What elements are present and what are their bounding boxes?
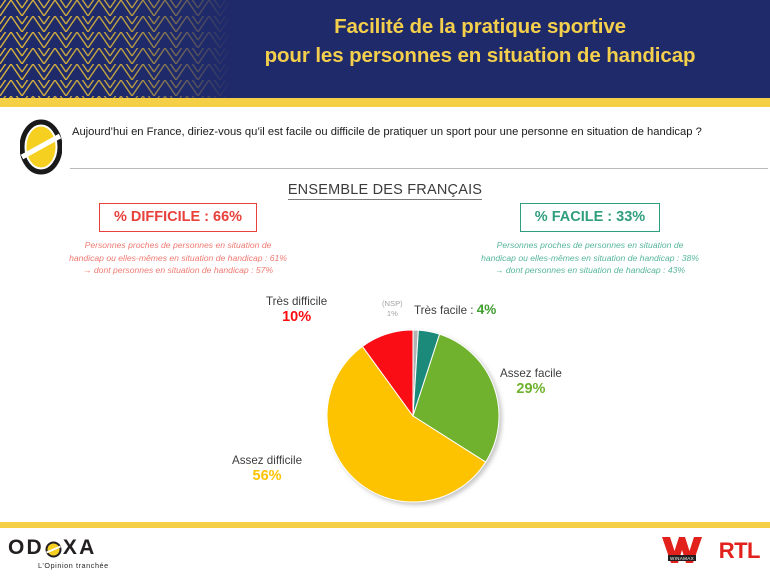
pie-label-assez-facile-name: Assez facile [500, 367, 562, 380]
pie-label-tres-difficile: Très difficile 10% [266, 294, 327, 325]
callout-facile-value: % FACILE : 33% [520, 203, 660, 232]
pie-label-tres-facile-pct: 4% [477, 302, 497, 317]
svg-text:WINAMAX: WINAMAX [670, 556, 694, 561]
callout-difficile-sub-line1: Personnes proches de personnes en situat… [28, 239, 328, 252]
pie-label-tres-facile: Très facile : 4% [414, 302, 496, 318]
odoxa-circle-icon [20, 119, 62, 175]
pie-label-assez-difficile: Assez difficile 56% [232, 453, 302, 484]
pie-label-nsp: (NSP) 1% [382, 299, 403, 319]
callout-facile-subtext: Personnes proches de personnes en situat… [440, 239, 740, 277]
header-gold-band [0, 98, 770, 107]
callout-difficile-sub-line3: → dont personnes en situation de handica… [28, 264, 328, 277]
callout-difficile-sub-line2: handicap ou elles-mêmes en situation de … [28, 252, 328, 265]
pie-chart-area: Très difficile 10% (NSP) 1% Très facile … [0, 288, 770, 518]
callout-facile: % FACILE : 33% Personnes proches de pers… [440, 203, 740, 277]
slide-header: Facilité de la pratique sportive pour le… [0, 0, 770, 98]
pie-label-tres-difficile-pct: 10% [266, 310, 327, 325]
pie-label-nsp-name: (NSP) [382, 299, 403, 308]
pie-chart [325, 328, 505, 508]
slide-root: Facilité de la pratique sportive pour le… [0, 0, 770, 577]
pie-label-assez-facile: Assez facile 29% [500, 366, 562, 397]
partner-logos: WINAMAX RTL [659, 534, 760, 568]
callout-facile-sub-line1: Personnes proches de personnes en situat… [440, 239, 740, 252]
question-divider [70, 168, 768, 169]
section-title: ENSEMBLE DES FRANÇAIS [0, 182, 770, 198]
page-title-line2: pour les personnes en situation de handi… [200, 41, 760, 70]
odoxa-logo: OD XA L’Opinion tranchée [8, 536, 128, 570]
chevron-pattern-decoration [0, 0, 232, 98]
pie-label-tres-facile-name: Très facile : [414, 304, 477, 317]
slide-footer: OD XA L’Opinion tranchée WINAMAX RTL [0, 528, 770, 577]
section-title-text: ENSEMBLE DES FRANÇAIS [288, 182, 482, 200]
pie-label-assez-difficile-name: Assez difficile [232, 454, 302, 467]
callout-facile-sub-line2: handicap ou elles-mêmes en situation de … [440, 252, 740, 265]
page-title: Facilité de la pratique sportive pour le… [200, 12, 760, 70]
callout-difficile-head: % DIFFICILE : 66% [28, 203, 328, 232]
pie-label-assez-difficile-pct: 56% [232, 469, 302, 484]
odoxa-wordmark: OD XA [8, 536, 128, 559]
callout-facile-sub-line3: → dont personnes en situation de handica… [440, 264, 740, 277]
callout-difficile: % DIFFICILE : 66% Personnes proches de p… [28, 203, 328, 277]
page-title-line1: Facilité de la pratique sportive [334, 15, 626, 38]
pie-label-assez-facile-pct: 29% [500, 382, 562, 397]
winamax-logo-icon: WINAMAX [659, 534, 705, 568]
pie-label-tres-difficile-name: Très difficile [266, 295, 327, 308]
odoxa-o-icon [45, 540, 62, 557]
question-text: Aujourd’hui en France, diriez-vous qu’il… [72, 123, 752, 141]
odoxa-wordmark-part2: XA [63, 536, 97, 559]
callout-difficile-subtext: Personnes proches de personnes en situat… [28, 239, 328, 277]
odoxa-tagline: L’Opinion tranchée [38, 561, 128, 570]
rtl-logo: RTL [719, 538, 760, 564]
pie-label-nsp-pct: 1% [382, 309, 403, 319]
callout-difficile-value: % DIFFICILE : 66% [99, 203, 257, 232]
callout-facile-head: % FACILE : 33% [440, 203, 740, 232]
odoxa-wordmark-part1: OD [8, 536, 44, 559]
